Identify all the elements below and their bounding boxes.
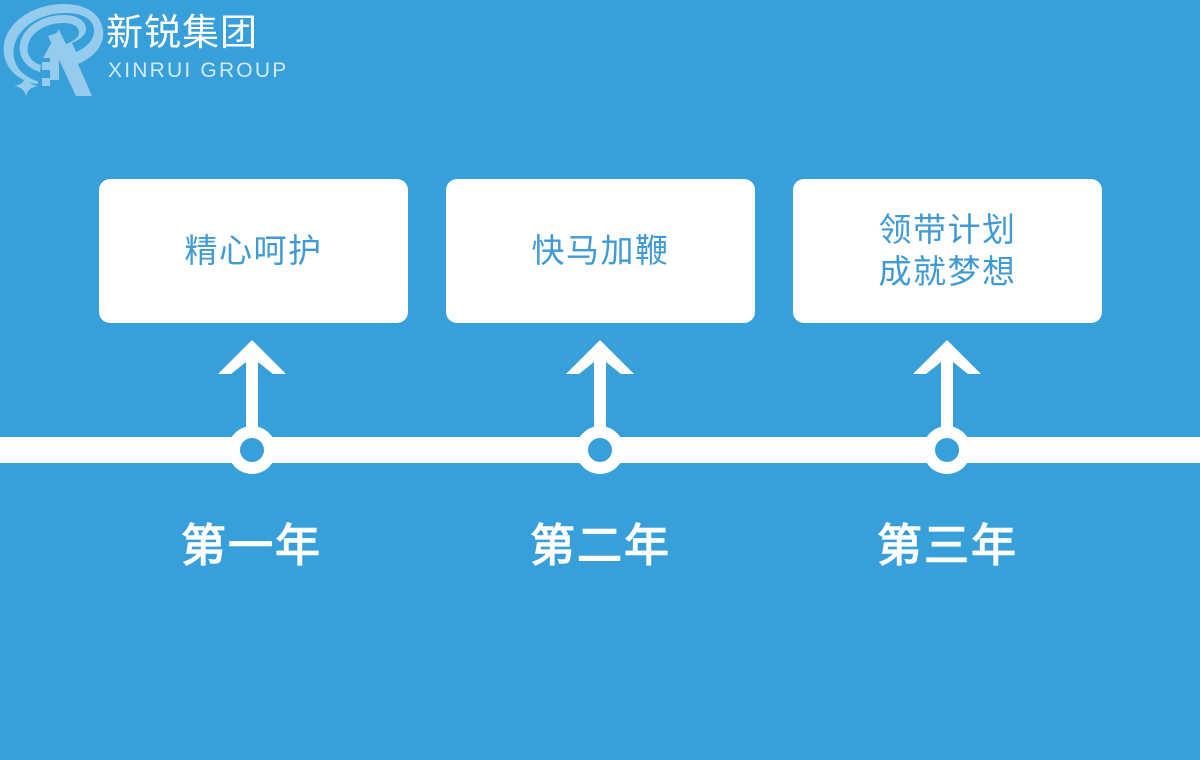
brand-logo-text: 新锐集团 XINRUI GROUP — [106, 12, 296, 88]
brand-name-cn: 新锐集团 — [106, 12, 258, 54]
milestone-card-2-text: 快马加鞭 — [532, 230, 670, 272]
xinrui-r-swoosh-logo-icon — [2, 2, 106, 98]
year-label-1: 第一年 — [97, 515, 406, 577]
year-label-2: 第二年 — [446, 515, 755, 577]
brand-logo: 新锐集团 XINRUI GROUP — [0, 0, 300, 100]
year-label-3: 第三年 — [793, 515, 1102, 577]
timeline-node-icon[interactable] — [228, 426, 276, 474]
timeline-node-icon[interactable] — [923, 426, 971, 474]
milestone-card-1-text: 精心呵护 — [185, 230, 323, 272]
milestone-card-2[interactable]: 快马加鞭 — [446, 179, 755, 323]
timeline-node-icon[interactable] — [576, 426, 624, 474]
slide-canvas: 新锐集团 XINRUI GROUP 精心呵护 快马加鞭 领带计划 成就梦想 第一… — [0, 0, 1200, 760]
milestone-card-3-text: 领带计划 成就梦想 — [879, 209, 1017, 293]
milestone-card-1[interactable]: 精心呵护 — [99, 179, 408, 323]
milestone-card-3[interactable]: 领带计划 成就梦想 — [793, 179, 1102, 323]
brand-name-en: XINRUI GROUP — [108, 58, 288, 83]
